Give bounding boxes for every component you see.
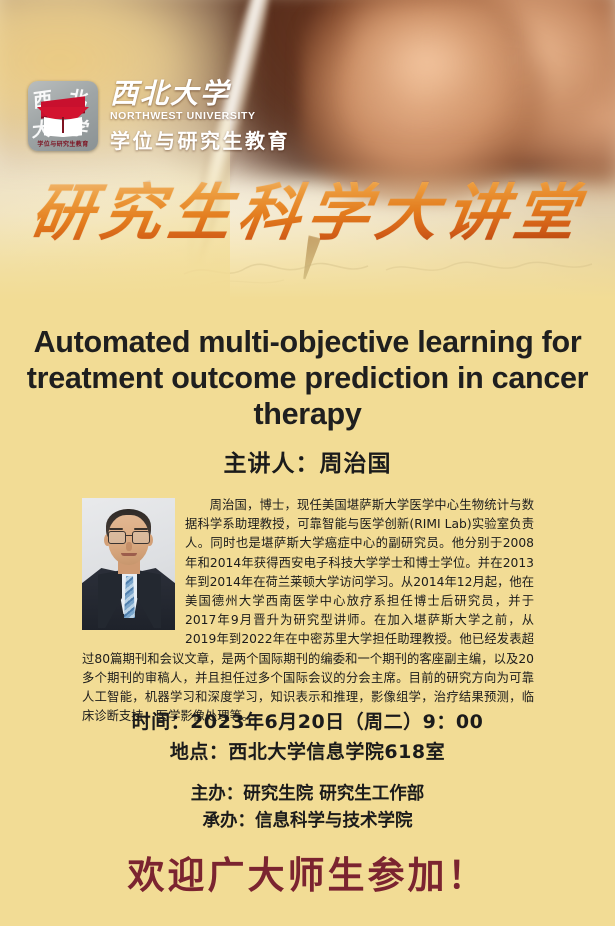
event-place-line: 地点：西北大学信息学院618室 — [0, 737, 615, 767]
photo-knuckle-highlight — [352, 2, 502, 122]
headshot-mouth — [121, 553, 137, 556]
glasses-bridge — [125, 535, 132, 536]
university-wordmark: 西北大学 NORTHWEST UNIVERSITY 学位与研究生教育 — [110, 78, 290, 154]
headshot-glasses-icon — [107, 531, 150, 542]
university-emblem-icon: 西 北 大 学 学位与研究生教育 — [28, 81, 98, 151]
university-name-en: NORTHWEST UNIVERSITY — [110, 110, 290, 122]
glasses-lens-left — [108, 531, 126, 544]
host-line: 主办：研究生院 研究生工作部 — [0, 781, 615, 808]
speaker-headshot-photo — [82, 498, 175, 630]
welcome-call-to-action: 欢迎广大师生参加！ — [0, 845, 615, 899]
cap-tassel-icon — [62, 117, 64, 133]
speaker-line: 主讲人：周治国 — [0, 444, 615, 478]
talk-title-en: Automated multi-objective learning for t… — [18, 324, 597, 432]
headshot-nose — [126, 542, 132, 551]
university-subtitle-cn: 学位与研究生教育 — [110, 125, 290, 154]
event-details: 时间：2023年6月20日（周二）9：00 地点：西北大学信息学院618室 — [0, 707, 615, 767]
event-time-line: 时间：2023年6月20日（周二）9：00 — [0, 707, 615, 737]
university-name-cn: 西北大学 — [110, 80, 290, 108]
speaker-bio-block: 周治国，博士，现任美国堪萨斯大学医学中心生物统计与数据科学系助理教授，可靠智能与… — [82, 496, 534, 726]
glasses-lens-right — [132, 531, 150, 544]
university-logo-lockup: 西 北 大 学 学位与研究生教育 西北大学 NORTHWEST UNIVERSI… — [28, 78, 290, 154]
emblem-caption: 学位与研究生教育 — [28, 139, 98, 148]
lecture-poster: 西 北 大 学 学位与研究生教育 西北大学 NORTHWEST UNIVERSI… — [0, 0, 615, 926]
organizer-line: 承办：信息科学与技术学院 — [0, 808, 615, 835]
series-title-calligraphy: 研究生科学大讲堂 — [0, 182, 615, 244]
organizer-details: 主办：研究生院 研究生工作部 承办：信息科学与技术学院 — [0, 781, 615, 835]
